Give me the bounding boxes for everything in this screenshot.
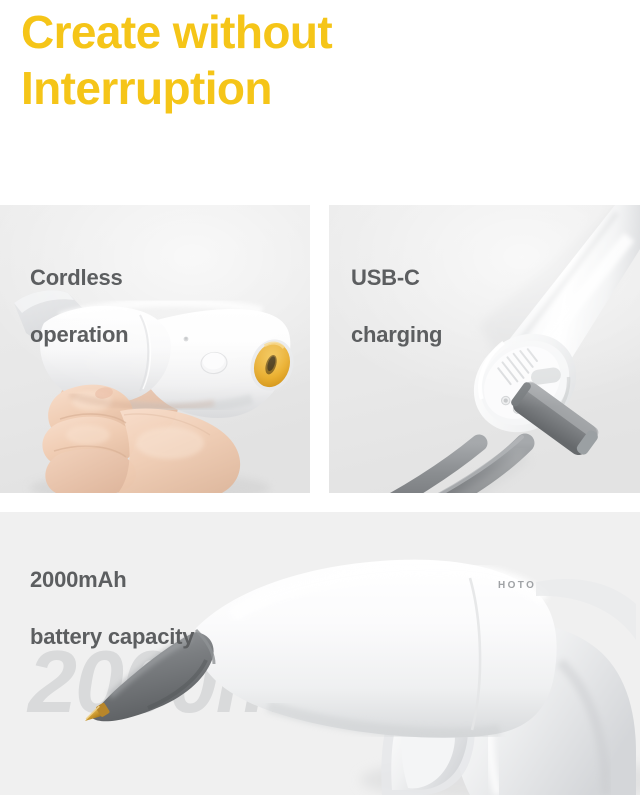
product-logo-battery: HOTO: [498, 580, 536, 591]
card-heading-cordless-line-1: Cordless: [30, 264, 128, 293]
page-headline: Create without Interruption: [21, 4, 621, 116]
card-heading-usbc-line-1: USB-C: [351, 264, 442, 293]
card-heading-usbc: USB-C charging: [351, 235, 442, 378]
feature-card-usbc: USB-C charging: [329, 205, 640, 493]
headline-line-2: Interruption: [21, 60, 621, 116]
card-heading-usbc-line-2: charging: [351, 321, 442, 350]
card-heading-battery-line-1: 2000mAh: [30, 566, 194, 595]
card-heading-battery: 2000mAh battery capacity: [30, 537, 194, 680]
feature-card-cordless: HOTO Cordless operation: [0, 205, 310, 493]
card-heading-battery-line-2: battery capacity: [30, 623, 194, 652]
card-heading-cordless: Cordless operation: [30, 235, 128, 378]
feature-card-battery: 2000mAh: [0, 512, 640, 795]
card-heading-cordless-line-2: operation: [30, 321, 128, 350]
headline-line-1: Create without: [21, 4, 621, 60]
